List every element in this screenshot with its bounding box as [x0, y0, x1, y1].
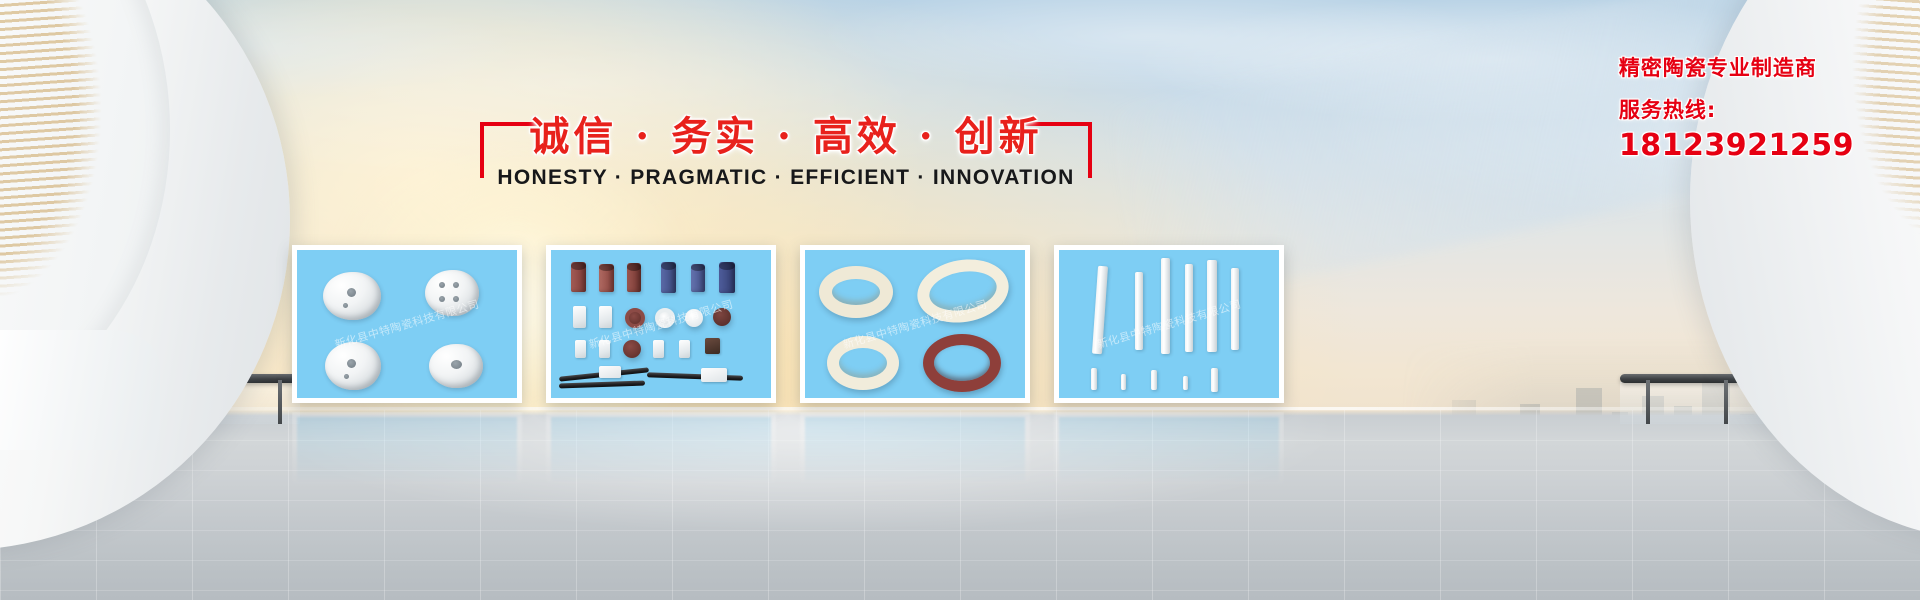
product-panel-3[interactable]: 新化县中特陶瓷科技有限公司 — [800, 245, 1030, 403]
hero-banner: 诚信 · 务实 · 高效 · 创新 HONESTY · PRAGMATIC · … — [0, 0, 1920, 600]
product-panel-4[interactable]: 新化县中特陶瓷科技有限公司 — [1054, 245, 1284, 403]
slogan-block: 诚信 · 务实 · 高效 · 创新 HONESTY · PRAGMATIC · … — [480, 104, 1092, 196]
hotline-label: 服务热线: — [1619, 94, 1854, 124]
product-image-rods — [1059, 250, 1279, 398]
product-panel-1[interactable]: 新化县中特陶瓷科技有限公司 — [292, 245, 522, 403]
contact-block: 精密陶瓷专业制造商 服务热线: 18123921259 — [1619, 52, 1854, 163]
company-tagline: 精密陶瓷专业制造商 — [1619, 52, 1854, 82]
product-image-rings — [805, 250, 1025, 398]
hotline-phone[interactable]: 18123921259 — [1619, 128, 1854, 163]
slogan-chinese: 诚信 · 务实 · 高效 · 创新 — [480, 104, 1092, 162]
floor-sheen — [0, 410, 1920, 600]
product-image-tubes — [551, 250, 771, 398]
product-panel-strip: 新化县中特陶瓷科技有限公司 — [292, 245, 1284, 403]
product-panel-2[interactable]: 新化县中特陶瓷科技有限公司 — [546, 245, 776, 403]
slogan-english: HONESTY · PRAGMATIC · EFFICIENT · INNOVA… — [480, 166, 1092, 190]
architecture-base-left — [0, 330, 160, 450]
product-image-caps — [297, 250, 517, 398]
